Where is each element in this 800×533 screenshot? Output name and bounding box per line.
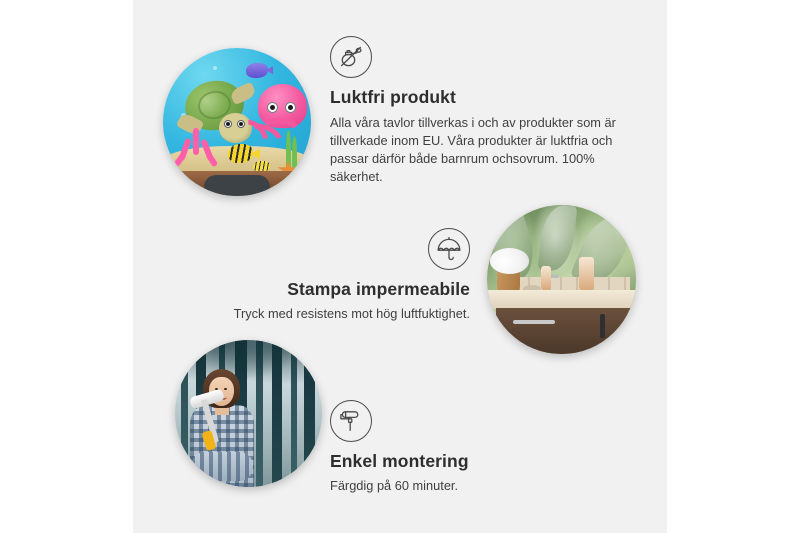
product-image-forest-painter — [175, 340, 322, 487]
umbrella-icon — [428, 228, 470, 270]
feature-title: Enkel montering — [330, 451, 620, 473]
underwater-scene — [163, 48, 311, 196]
feature-title: Stampa impermeabile — [180, 279, 470, 301]
turtle-eye — [224, 120, 232, 128]
feature-odourless: Luktfri produkt Alla våra tavlor tillver… — [330, 36, 620, 187]
feature-title: Luktfri produkt — [330, 87, 620, 109]
promo-infographic: Luktfri produkt Alla våra tavlor tillver… — [0, 0, 800, 533]
feature-description: Alla våra tavlor tillverkas i och av pro… — [330, 114, 620, 187]
feature-waterproof: Stampa impermeabile Tryck med resistens … — [180, 228, 470, 323]
bathroom-scene — [487, 205, 636, 354]
paint-roller-icon — [330, 400, 372, 442]
flowers — [490, 248, 529, 273]
dark-rock — [204, 175, 269, 196]
coral-icon — [175, 128, 219, 172]
tree-canopy — [175, 340, 322, 390]
forest-scene — [175, 340, 322, 487]
no-fragrance-icon — [330, 36, 372, 78]
octopus-eye — [267, 102, 278, 113]
product-image-bathroom — [487, 205, 636, 354]
feature-description: Färgdig på 60 minuter. — [330, 477, 620, 495]
seaweed-icon — [281, 128, 302, 172]
woman-arms — [191, 452, 253, 481]
woman-eye — [224, 388, 227, 390]
octopus-eye — [285, 102, 296, 113]
vanity-cabinet — [496, 308, 636, 354]
countertop — [487, 290, 636, 309]
blue-fish-icon — [246, 63, 268, 78]
product-image-underwater — [163, 48, 311, 196]
feature-description: Tryck med resistens mot hög luftfuktighe… — [180, 305, 470, 323]
toiletry-bottle — [541, 266, 551, 290]
toiletry-bottle — [579, 257, 594, 290]
feature-easy-mount: Enkel montering Färgdig på 60 minuter. — [330, 400, 620, 495]
